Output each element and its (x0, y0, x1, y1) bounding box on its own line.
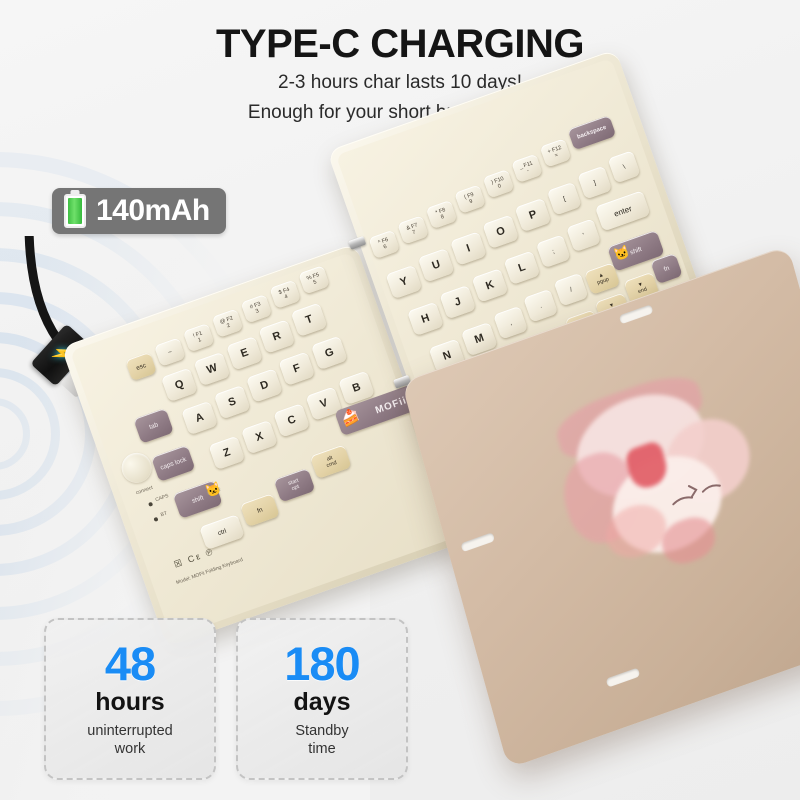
stat-number: 48 (105, 640, 155, 687)
stat-unit: days (294, 689, 351, 717)
stat-number: 180 (284, 640, 359, 687)
case-slot-3 (606, 668, 640, 688)
case-slot-2 (461, 532, 495, 552)
subtitle-line-2: Enough for your short business trips (0, 102, 800, 124)
subtitle-line-1: 2-3 hours char lasts 10 days! (0, 72, 800, 94)
brand-label: MOFii (374, 395, 409, 416)
battery-icon (64, 194, 86, 228)
stat-unit: hours (95, 689, 164, 717)
cat-artwork (527, 345, 778, 599)
stat-description: Standbytime (295, 722, 348, 758)
product-banner: TYPE-C CHARGING 2-3 hours char lasts 10 … (0, 0, 800, 800)
stat-card-days: 180 days Standbytime (236, 618, 408, 780)
case-slot-1 (619, 304, 653, 324)
stat-card-hours: 48 hours uninterruptedwork (44, 618, 216, 780)
stat-description: uninterruptedwork (87, 722, 172, 758)
page-title: TYPE-C CHARGING (0, 22, 800, 67)
